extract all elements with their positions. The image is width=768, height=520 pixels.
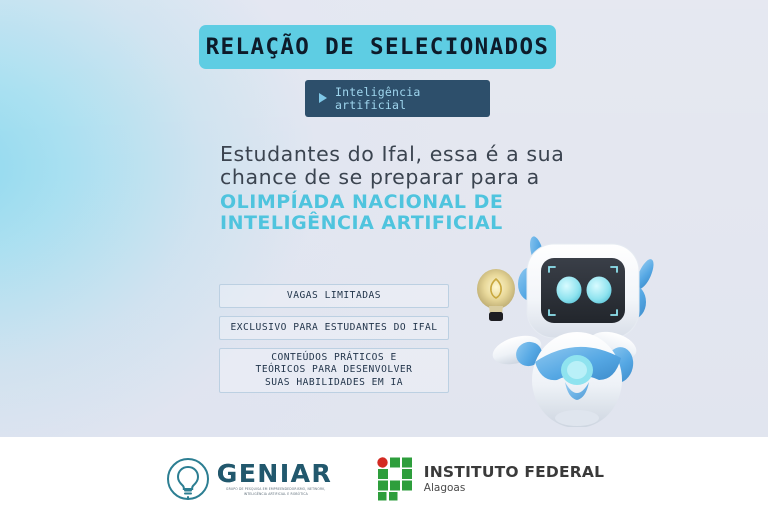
ifal-text-wrap: INSTITUTO FEDERAL Alagoas: [424, 463, 604, 495]
robot-eye-right: [587, 277, 612, 304]
subtitle-line-2: artificial: [335, 99, 420, 112]
lightbulb-icon: [477, 269, 515, 321]
subtitle-badge-label: Inteligência artificial: [335, 86, 420, 112]
headline-block: Estudantes do Ifal, essa é a sua chance …: [220, 143, 640, 234]
subtitle-badge: Inteligência artificial: [305, 80, 490, 117]
play-triangle-icon: [319, 93, 327, 103]
headline-line-1: Estudantes do Ifal, essa é a sua: [220, 143, 640, 166]
info-box-exclusivo: EXCLUSIVO PARA ESTUDANTES DO IFAL: [219, 316, 449, 340]
ifal-subtitle: Alagoas: [424, 482, 604, 495]
robot-base: [555, 410, 599, 426]
lightbulb-circle-icon: [164, 455, 212, 503]
info-box-vagas: VAGAS LIMITADAS: [219, 284, 449, 308]
ifal-logo: INSTITUTO FEDERAL Alagoas: [377, 457, 604, 501]
robot-mascot: [465, 222, 680, 427]
subtitle-line-1: Inteligência: [335, 86, 420, 99]
geniar-wordmark: GENIAR: [217, 461, 335, 487]
headline-line-2: chance de se preparar para a: [220, 166, 640, 189]
info-boxes-group: VAGAS LIMITADAS EXCLUSIVO PARA ESTUDANTE…: [219, 284, 449, 401]
robot-eye-left: [557, 277, 582, 304]
headline-highlight-1: OLIMPÍADA NACIONAL DE: [220, 192, 640, 213]
footer-logos: GENIAR GRUPO DE PESQUISA EM EMPREENDEDOR…: [0, 437, 768, 520]
poster-title-text: RELAÇÃO DE SELECIONADOS: [206, 34, 550, 60]
info-box-conteudos: CONTEÚDOS PRÁTICOS E TEÓRICOS PARA DESEN…: [219, 348, 449, 393]
instituto-federal-grid-icon: [377, 457, 415, 501]
geniar-logo: GENIAR GRUPO DE PESQUISA EM EMPREENDEDOR…: [164, 455, 335, 503]
headline-highlight-2: INTELIGÊNCIA ARTIFICIAL: [220, 213, 640, 234]
geniar-tagline: GRUPO DE PESQUISA EM EMPREENDEDORISMO, N…: [217, 487, 335, 495]
ifal-title: INSTITUTO FEDERAL: [424, 463, 604, 481]
geniar-text-wrap: GENIAR GRUPO DE PESQUISA EM EMPREENDEDOR…: [217, 461, 335, 495]
robot-mascot-illustration: [465, 222, 680, 427]
poster-title-bar: RELAÇÃO DE SELECIONADOS: [199, 25, 556, 69]
poster-banner: RELAÇÃO DE SELECIONADOS Inteligência art…: [0, 0, 768, 437]
